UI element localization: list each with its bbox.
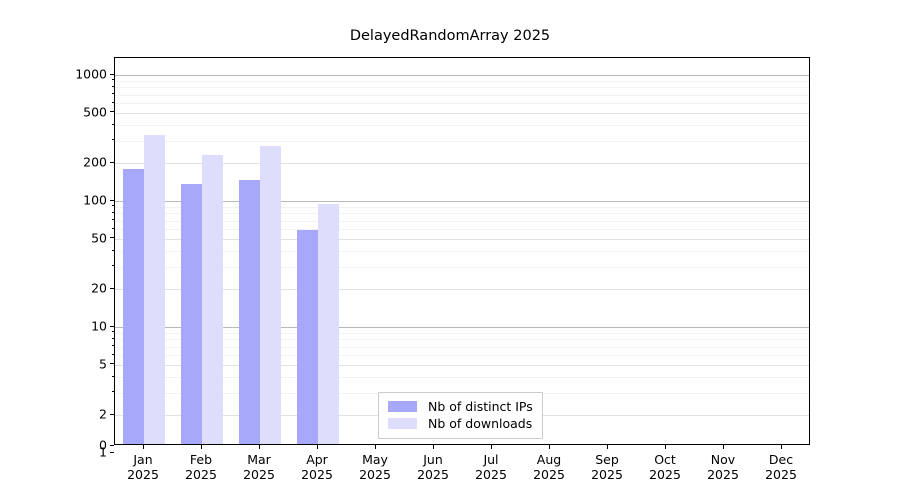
x-tick-month: Apr [301,452,333,467]
x-tick-year: 2025 [533,467,565,482]
x-tick-year: 2025 [475,467,507,482]
x-tick-mark [723,445,724,449]
legend-label: Nb of distinct IPs [428,399,533,414]
x-tick-mark [607,445,608,449]
x-tick-mark [375,445,376,449]
x-tick-label: Aug2025 [533,452,565,482]
chart-figure: DelayedRandomArray 2025 0125102050100200… [0,0,900,500]
x-tick-year: 2025 [185,467,217,482]
legend-item[interactable]: Nb of downloads [388,415,533,432]
x-tick-mark [201,445,202,449]
x-tick-mark [491,445,492,449]
x-tick-label: May2025 [359,452,391,482]
x-tick-month: Aug [533,452,565,467]
x-tick-month: Feb [185,452,217,467]
x-tick-month: Jun [417,452,449,467]
x-tick-month: Oct [649,452,681,467]
chart-legend[interactable]: Nb of distinct IPsNb of downloads [378,392,543,439]
x-tick-label: Jan2025 [127,452,159,482]
x-tick-label: Jun2025 [417,452,449,482]
x-tick-month: Sep [591,452,623,467]
x-tick-mark [781,445,782,449]
x-tick-month: Mar [243,452,275,467]
legend-swatch-icon [388,418,417,429]
x-tick-year: 2025 [765,467,797,482]
x-tick-year: 2025 [359,467,391,482]
x-tick-mark [665,445,666,449]
x-tick-mark [259,445,260,449]
x-tick-label: Mar2025 [243,452,275,482]
x-tick-month: Jan [127,452,159,467]
x-tick-mark [143,445,144,449]
x-tick-label: Sep2025 [591,452,623,482]
x-tick-label: Oct2025 [649,452,681,482]
x-tick-year: 2025 [707,467,739,482]
x-tick-month: Jul [475,452,507,467]
x-tick-label: Jul2025 [475,452,507,482]
x-tick-month: Nov [707,452,739,467]
x-tick-mark [549,445,550,449]
x-tick-label: Apr2025 [301,452,333,482]
x-tick-year: 2025 [301,467,333,482]
x-tick-mark [433,445,434,449]
x-tick-month: Dec [765,452,797,467]
x-tick-year: 2025 [591,467,623,482]
x-tick-label: Dec2025 [765,452,797,482]
x-tick-year: 2025 [243,467,275,482]
legend-label: Nb of downloads [428,416,532,431]
x-tick-label: Feb2025 [185,452,217,482]
x-tick-year: 2025 [649,467,681,482]
legend-swatch-icon [388,401,417,412]
x-tick-mark [317,445,318,449]
legend-item[interactable]: Nb of distinct IPs [388,398,533,415]
x-tick-year: 2025 [127,467,159,482]
x-tick-month: May [359,452,391,467]
x-tick-label: Nov2025 [707,452,739,482]
x-tick-year: 2025 [417,467,449,482]
